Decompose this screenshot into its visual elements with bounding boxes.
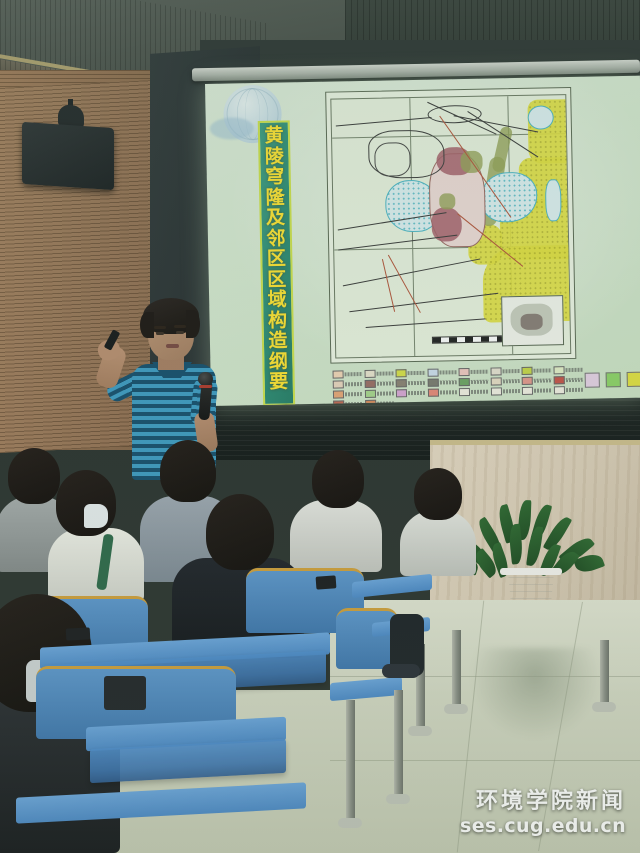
title-char: 造 bbox=[268, 330, 287, 351]
legend-item bbox=[427, 367, 457, 377]
legend-item bbox=[333, 389, 363, 399]
student-center-black-head bbox=[206, 494, 274, 570]
microphone-ring bbox=[199, 385, 212, 388]
desk-leg bbox=[394, 690, 403, 798]
desk-leg bbox=[600, 640, 609, 706]
legend-item bbox=[490, 376, 520, 386]
student-mid-grey-head bbox=[8, 448, 60, 504]
legend-item bbox=[427, 377, 457, 387]
legend-item bbox=[396, 378, 426, 388]
student-back-center-head bbox=[160, 440, 216, 502]
legend-item bbox=[521, 365, 551, 375]
legend-item bbox=[459, 377, 489, 387]
wall-speaker bbox=[22, 122, 114, 190]
legend-item bbox=[395, 368, 425, 378]
student-right-white-head bbox=[312, 450, 364, 508]
student-masked-white-tank-shoulders bbox=[48, 528, 144, 602]
desk-foot bbox=[444, 704, 468, 714]
watermark: 环境学院新闻 ses.cug.edu.cn bbox=[460, 789, 626, 837]
title-char: 要 bbox=[269, 371, 288, 392]
device-on-desk-dark[interactable] bbox=[104, 676, 146, 710]
desk-leg bbox=[452, 630, 461, 708]
legend-item bbox=[427, 387, 457, 397]
presenter-mouth bbox=[166, 344, 179, 348]
map-plot-area bbox=[330, 94, 571, 358]
student-right-white-shoulders bbox=[290, 500, 382, 572]
title-char: 穹 bbox=[265, 166, 284, 187]
legend-item bbox=[459, 387, 489, 397]
map-legend bbox=[333, 365, 584, 400]
legend-item bbox=[333, 369, 363, 379]
legend-item bbox=[333, 379, 363, 389]
floor-reflection bbox=[470, 648, 600, 740]
title-char: 纲 bbox=[269, 351, 288, 372]
watermark-chinese: 环境学院新闻 bbox=[460, 789, 626, 815]
legend-item bbox=[553, 375, 583, 385]
legend-item bbox=[490, 366, 520, 376]
desk-leg bbox=[346, 700, 355, 822]
legend-item bbox=[458, 367, 488, 377]
microphone-head bbox=[198, 372, 213, 386]
title-char: 陵 bbox=[265, 146, 284, 167]
legend-item bbox=[364, 368, 394, 378]
title-char: 域 bbox=[267, 289, 286, 310]
china-inset-map bbox=[501, 295, 564, 346]
title-char: 区 bbox=[267, 248, 286, 269]
plant-pot-rim bbox=[500, 568, 562, 575]
student-right-sandal bbox=[382, 664, 420, 678]
phone-on-desk[interactable] bbox=[316, 575, 337, 589]
legend-item bbox=[522, 385, 552, 395]
legend-item bbox=[490, 386, 520, 396]
slide-vertical-title: 黄 陵 穹 隆 及 邻 区 区 域 构 造 纲 要 bbox=[258, 120, 295, 406]
title-char: 隆 bbox=[265, 187, 284, 208]
legend-item bbox=[553, 365, 583, 375]
watermark-url: ses.cug.edu.cn bbox=[460, 815, 626, 837]
title-char: 邻 bbox=[266, 228, 285, 249]
title-char: 及 bbox=[266, 207, 285, 228]
projection-screen: 黄 陵 穹 隆 及 邻 区 区 域 构 造 纲 要 bbox=[205, 76, 640, 406]
title-char: 黄 bbox=[264, 126, 283, 147]
chair-back-right[interactable] bbox=[336, 608, 398, 669]
legend-item bbox=[364, 388, 394, 398]
legend-extra-swatches bbox=[585, 372, 640, 388]
desk-surface-mid-right bbox=[352, 574, 432, 598]
desk-foot bbox=[408, 726, 432, 736]
legend-item bbox=[364, 378, 394, 388]
desk-foot bbox=[386, 794, 410, 804]
lecture-hall-photo: 黄 陵 穹 隆 及 邻 区 区 域 构 造 纲 要 bbox=[0, 0, 640, 853]
legend-item bbox=[396, 388, 426, 398]
geological-structure-map bbox=[325, 87, 576, 364]
student-far-right-head bbox=[414, 468, 462, 520]
face-mask bbox=[84, 504, 108, 528]
phone-foreground[interactable] bbox=[66, 627, 91, 640]
title-char: 构 bbox=[268, 310, 287, 331]
title-char: 区 bbox=[267, 269, 286, 290]
map-scale-bar bbox=[432, 335, 504, 343]
legend-item bbox=[522, 375, 552, 385]
desk-foot bbox=[338, 818, 362, 828]
desk-foot bbox=[592, 702, 616, 712]
legend-item bbox=[553, 385, 583, 395]
